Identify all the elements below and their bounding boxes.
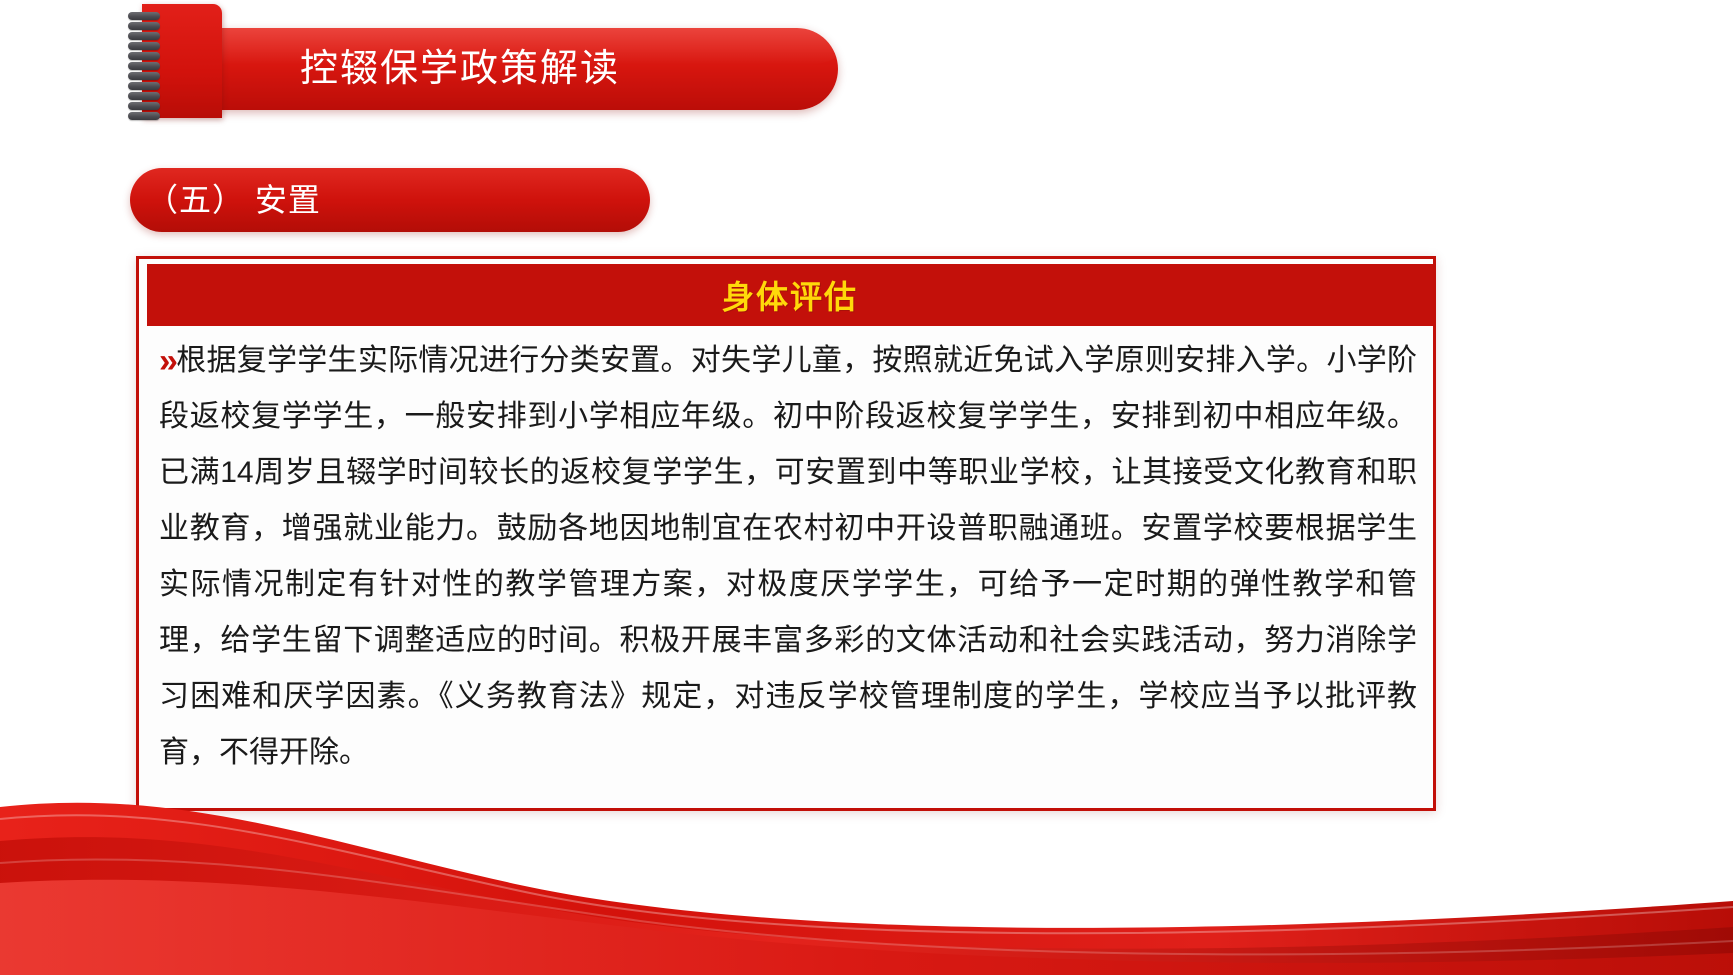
header-banner: 控辍保学政策解读 [0,0,1733,140]
notebook-ring [128,32,160,40]
page-title: 控辍保学政策解读 [300,28,620,110]
notebook-ring [128,102,160,110]
wave-layer-front [0,880,1733,975]
notebook-ring [128,112,160,120]
notebook-rings [128,12,162,116]
section-heading: （五） 安置 [146,168,321,232]
double-chevron-right-icon: » [159,344,174,378]
wave-layer-back [0,803,1733,975]
notebook-ring [128,12,160,20]
card-title: 身体评估 [722,272,858,318]
card-body: »根据复学学生实际情况进行分类安置。对失学儿童，按照就近免试入学原则安排入学。小… [159,333,1417,800]
notebook-ring [128,42,160,50]
notebook-ring [128,22,160,30]
card-header-bar: 身体评估 [147,264,1433,326]
spiral-notebook-icon [128,4,222,118]
body-paragraph: »根据复学学生实际情况进行分类安置。对失学儿童，按照就近免试入学原则安排入学。小… [159,333,1417,781]
wave-highlight-line-2 [0,859,1733,954]
notebook-ring [128,62,160,70]
notebook-ring [128,72,160,80]
content-card: 身体评估 »根据复学学生实际情况进行分类安置。对失学儿童，按照就近免试入学原则安… [136,256,1436,811]
wave-highlight-line [0,815,1733,933]
notebook-ring [128,92,160,100]
slide-root: 控辍保学政策解读 （五） 安置 身体评估 »根据复学学生实际情况进行分类安置。对… [0,0,1733,975]
paragraph-text: 根据复学学生实际情况进行分类安置。对失学儿童，按照就近免试入学原则安排入学。小学… [159,344,1417,769]
wave-layer-mid [0,837,1733,975]
notebook-ring [128,52,160,60]
notebook-ring [128,82,160,90]
